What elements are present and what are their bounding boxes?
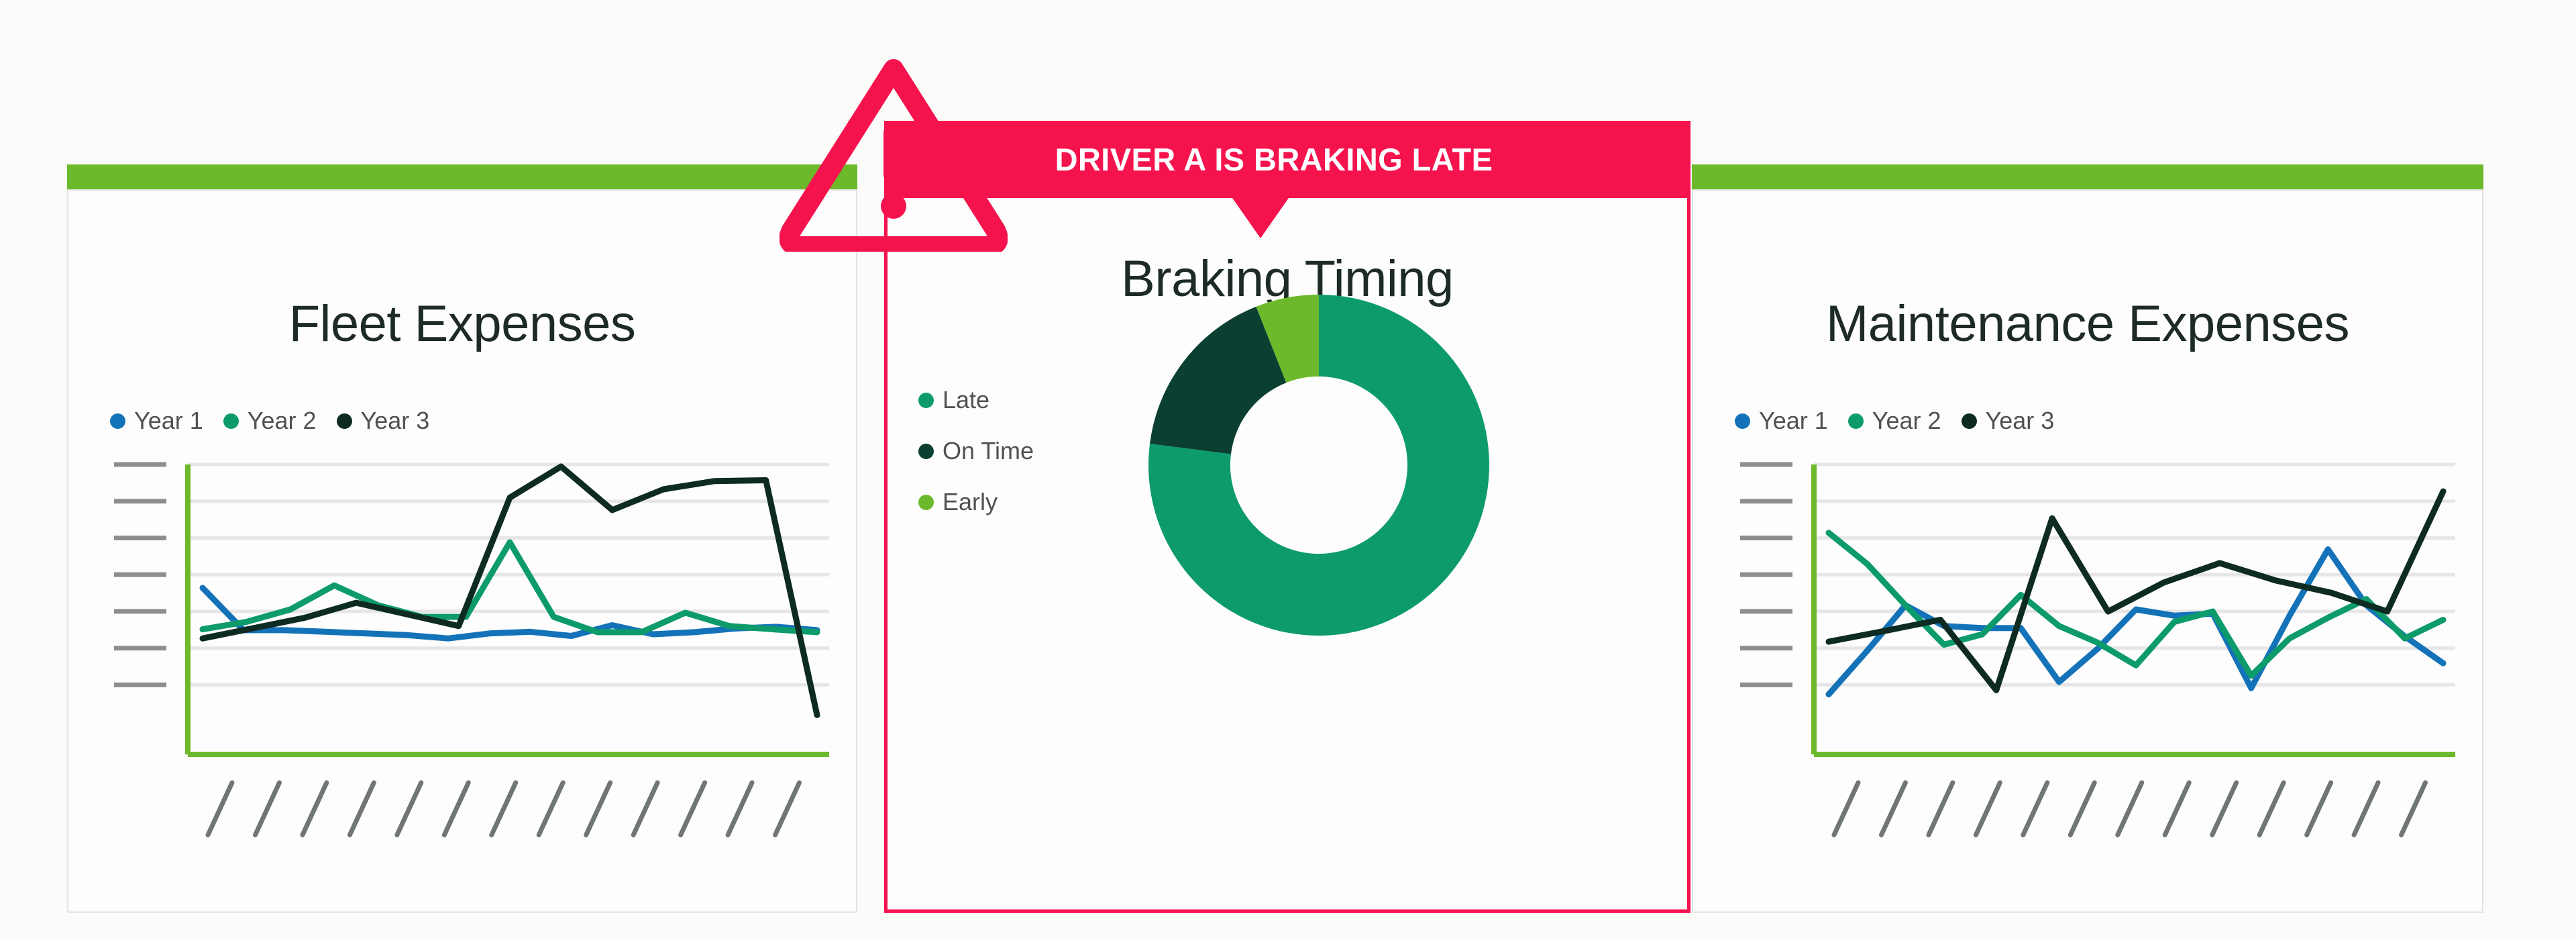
legend-fleet: Year 1 Year 2 Year 3 <box>110 407 429 435</box>
legend-dot-icon <box>1848 413 1864 429</box>
line-chart-maintenance-expenses[interactable] <box>1735 452 2466 869</box>
legend-item-late[interactable]: Late <box>918 386 989 414</box>
page-title-fleet: Fleet Expenses <box>68 295 856 353</box>
line-chart-svg <box>109 452 840 869</box>
donut-chart-braking-timing[interactable] <box>1144 291 1493 640</box>
legend-label: Year 3 <box>361 407 430 435</box>
legend-label: Year 3 <box>1986 407 2055 435</box>
legend-dot-icon <box>918 495 934 510</box>
legend-item-on-time[interactable]: On Time <box>918 437 1034 465</box>
card-maintenance-expenses[interactable]: Maintenance Expenses Year 1 Year 2 Year … <box>1692 189 2483 913</box>
legend-label: Late <box>943 386 989 414</box>
legend-dot-icon <box>223 413 239 429</box>
donut-chart-svg <box>1144 291 1493 640</box>
legend-label: Year 1 <box>134 407 203 435</box>
legend-maintenance: Year 1 Year 2 Year 3 <box>1735 407 2054 435</box>
alert-banner-pointer-icon <box>1232 198 1289 238</box>
legend-braking: Late On Time Early <box>918 386 1034 516</box>
legend-dot-icon <box>1735 413 1750 429</box>
legend-item-year2[interactable]: Year 2 <box>1848 407 1941 435</box>
legend-item-year2[interactable]: Year 2 <box>223 407 317 435</box>
legend-item-year1[interactable]: Year 1 <box>110 407 203 435</box>
legend-label: Year 1 <box>1759 407 1828 435</box>
legend-item-year3[interactable]: Year 3 <box>1962 407 2055 435</box>
legend-dot-icon <box>337 413 352 429</box>
page-title-maintenance: Maintenance Expenses <box>1693 295 2482 353</box>
legend-item-early[interactable]: Early <box>918 488 998 516</box>
legend-dot-icon <box>918 444 934 459</box>
legend-label: On Time <box>943 437 1034 465</box>
legend-item-year3[interactable]: Year 3 <box>337 407 430 435</box>
line-chart-fleet-expenses[interactable] <box>109 452 840 869</box>
alert-message: DRIVER A IS BRAKING LATE <box>1055 141 1493 178</box>
dashboard-stage: Fleet Expenses Year 1 Year 2 Year 3 Brak… <box>0 0 2576 941</box>
warning-triangle-icon <box>780 50 1008 252</box>
legend-label: Year 2 <box>248 407 317 435</box>
legend-dot-icon <box>110 413 125 429</box>
legend-item-year1[interactable]: Year 1 <box>1735 407 1828 435</box>
line-chart-svg <box>1735 452 2466 869</box>
legend-dot-icon <box>1962 413 1977 429</box>
legend-label: Early <box>943 488 998 516</box>
card-fleet-expenses[interactable]: Fleet Expenses Year 1 Year 2 Year 3 <box>67 189 857 913</box>
legend-dot-icon <box>918 393 934 408</box>
legend-label: Year 2 <box>1872 407 1941 435</box>
